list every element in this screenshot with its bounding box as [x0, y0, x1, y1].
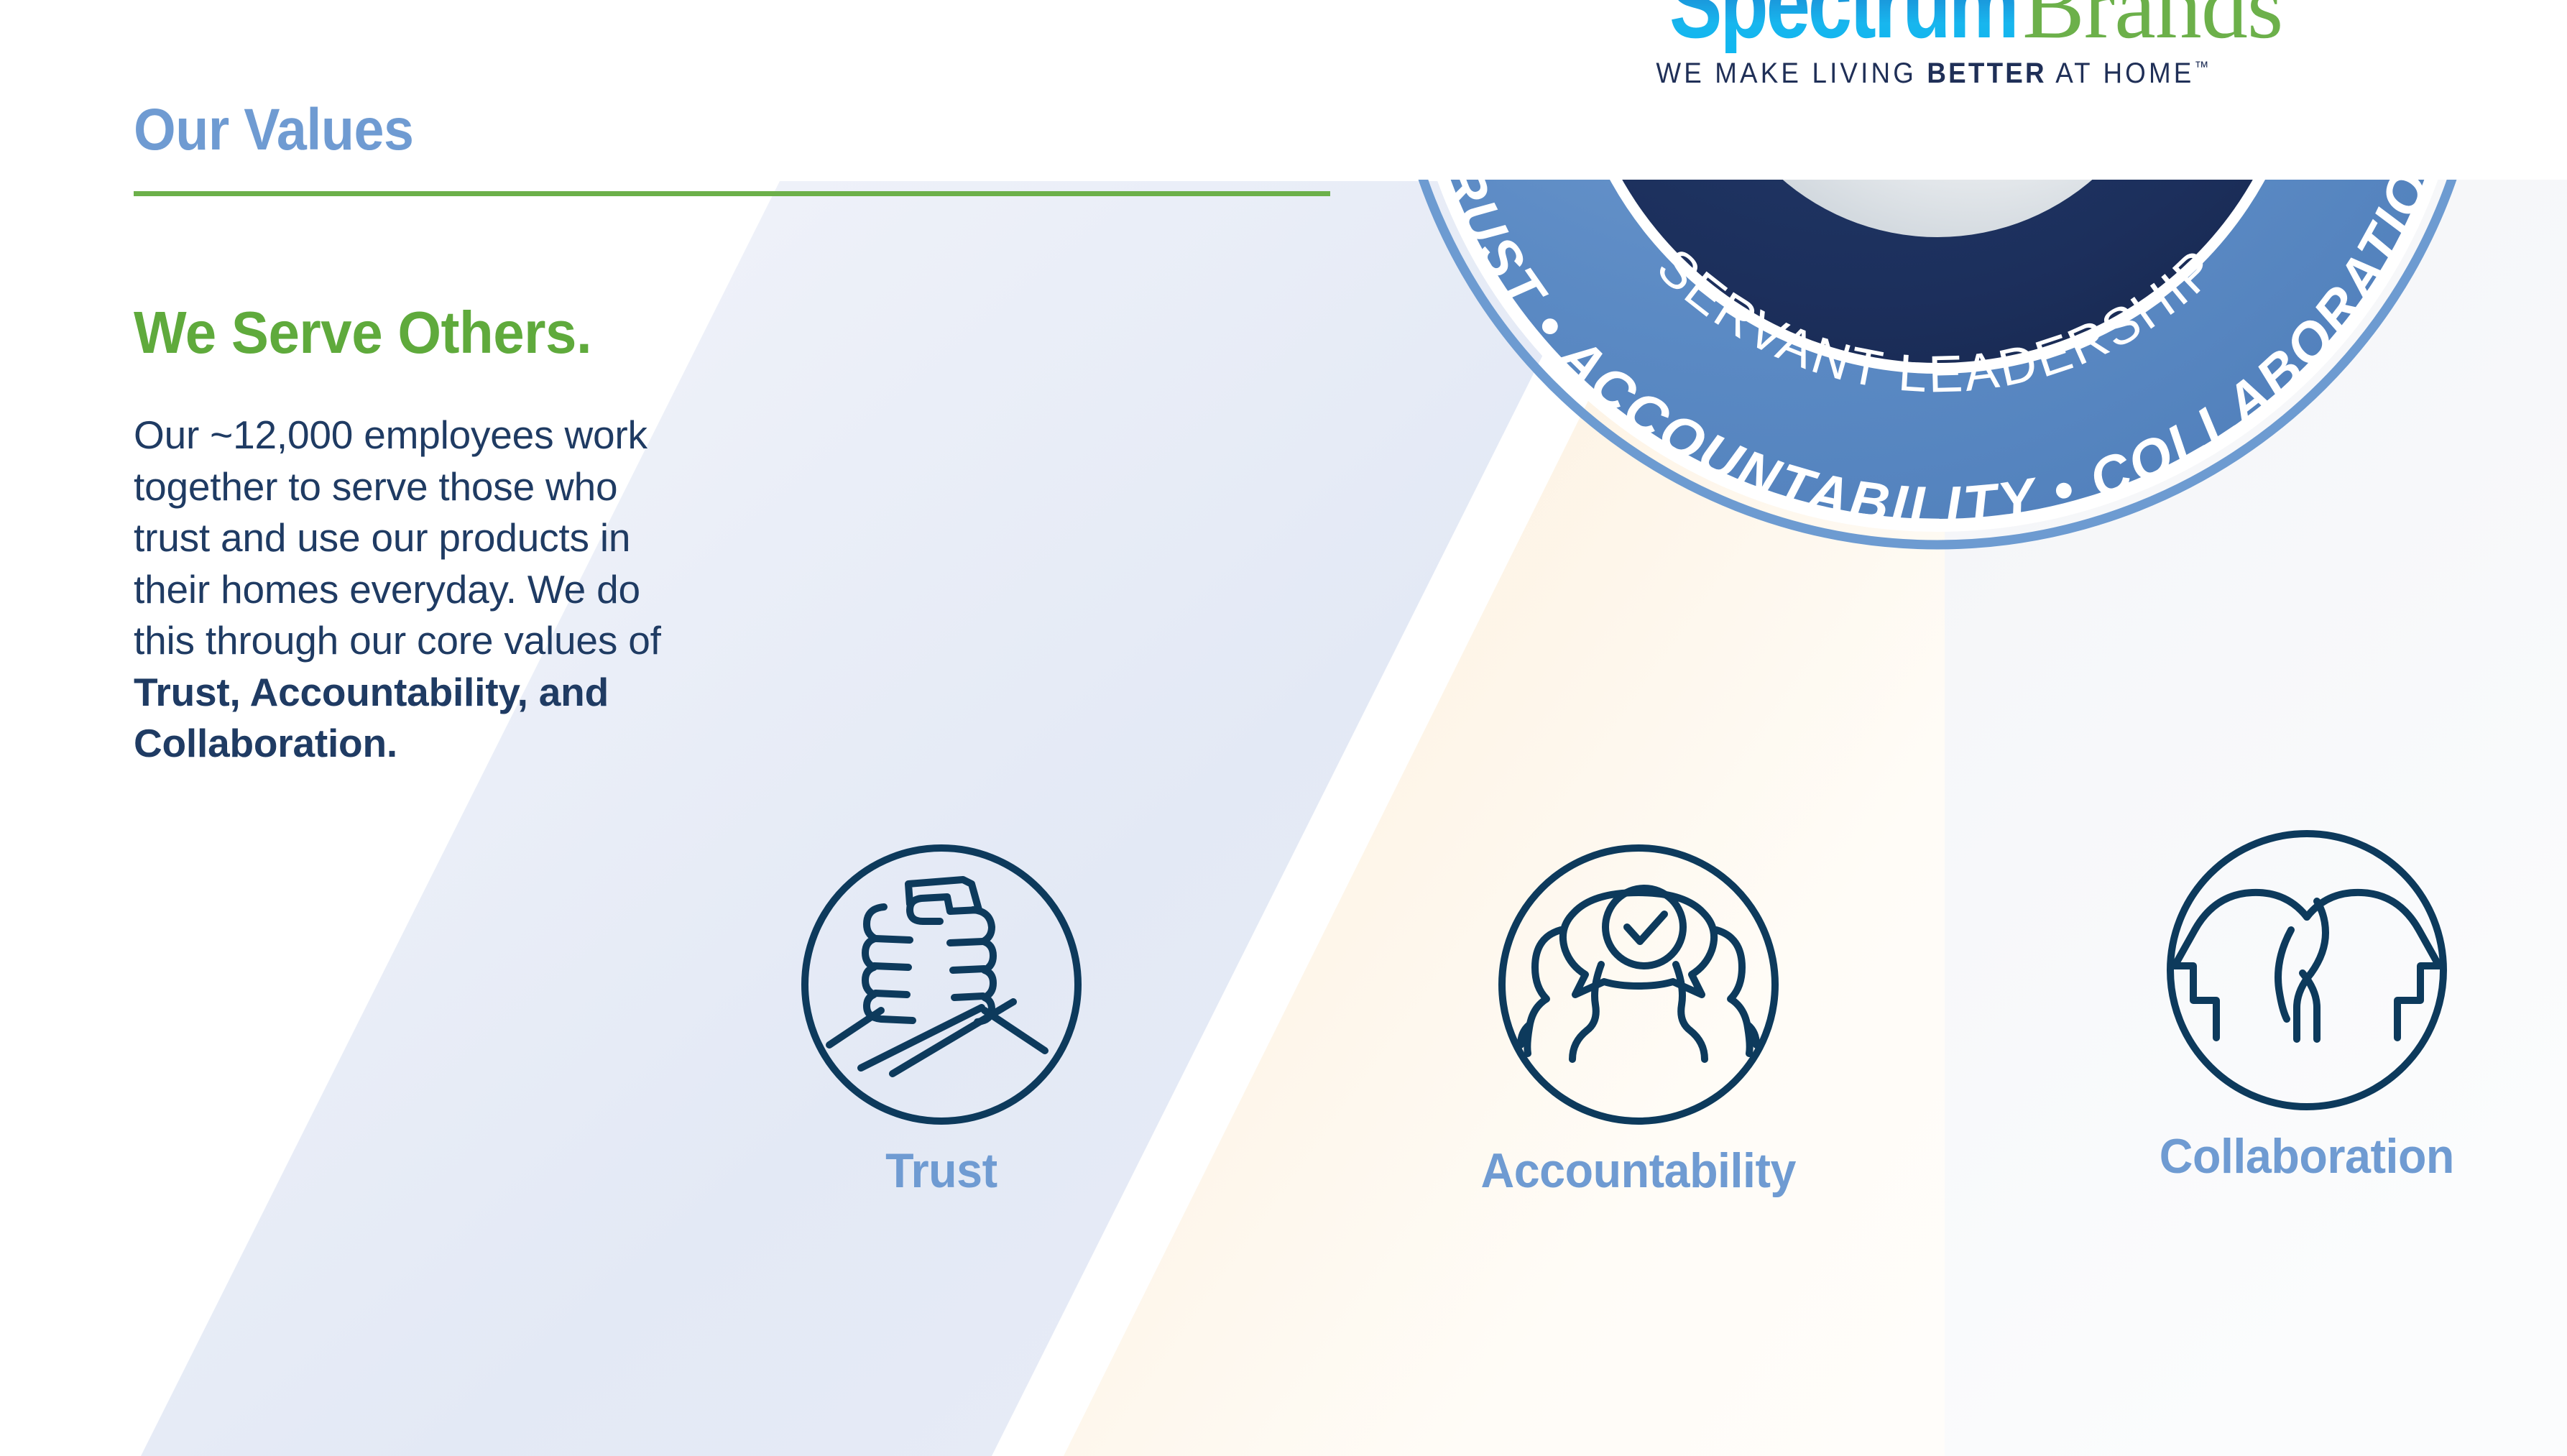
page-title: Our Values — [134, 101, 1245, 160]
body-paragraph: Our ~12,000 employees work together to s… — [134, 362, 680, 770]
value-item-trust[interactable]: Trust — [769, 841, 1114, 1199]
values-row: Trust Accou — [0, 826, 2567, 1373]
two-people-speech-check-icon — [1495, 841, 1782, 1128]
tagline-post: AT HOME — [2047, 57, 2195, 89]
value-item-accountability[interactable]: Accountability — [1466, 841, 1811, 1199]
seal-inner-ring-text: SERVANT LEADERSHIP — [1646, 238, 2229, 404]
body-paragraph-plain: Our ~12,000 employees work together to s… — [134, 413, 661, 663]
logo-word-brands: Brands — [2017, 0, 2282, 53]
value-item-collaboration[interactable]: Collaboration — [2134, 826, 2479, 1184]
section-subtitle: We Serve Others. — [134, 196, 1268, 362]
seal-outer-ring-text: TRUST • ACCOUNTABILITY • COLLABORATION — [1419, 122, 2456, 537]
logo-word-spectrum: Spectrum — [1669, 0, 2017, 53]
tagline-pre: WE MAKE LIVING — [1656, 57, 1927, 89]
title-divider-rule — [134, 191, 1330, 196]
clasped-hands-icon — [798, 841, 1085, 1128]
left-text-column: Our Values We Serve Others. Our ~12,000 … — [134, 101, 1341, 770]
two-head-profiles-icon — [2163, 826, 2451, 1114]
value-label-collaboration: Collaboration — [2160, 1128, 2454, 1184]
trademark-symbol: ™ — [2194, 58, 2208, 76]
logo-tagline: WE MAKE LIVING BETTER AT HOME™ — [1349, 57, 2517, 90]
tagline-bold: BETTER — [1927, 57, 2047, 89]
logo-band: SpectrumBrands WE MAKE LIVING BETTER AT … — [1298, 0, 2567, 180]
value-label-accountability: Accountability — [1481, 1143, 1796, 1199]
value-label-trust: Trust — [885, 1143, 997, 1199]
spectrum-brands-wordmark: SpectrumBrands — [1582, 0, 2283, 53]
slide-canvas: TRUST • ACCOUNTABILITY • COLLABORATION S… — [0, 0, 2567, 1456]
body-paragraph-bold: Trust, Accountability, and Collaboration… — [134, 670, 609, 766]
